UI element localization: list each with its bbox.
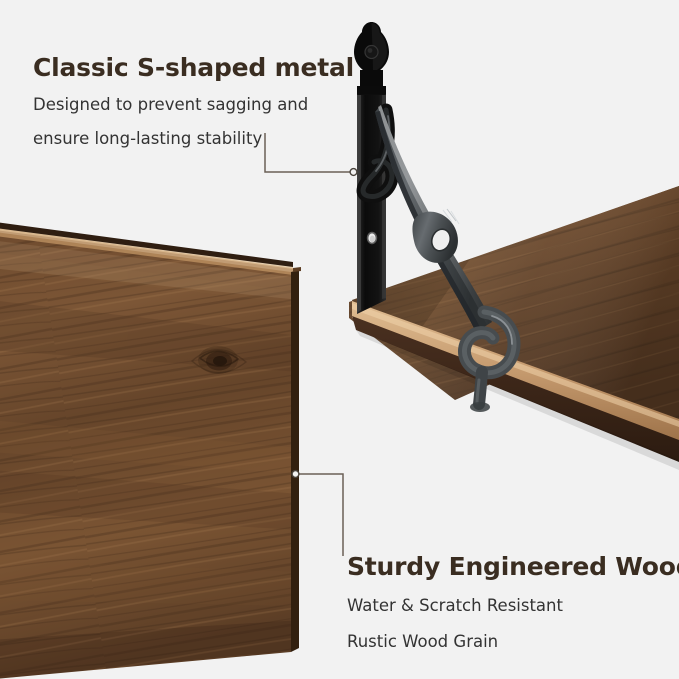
leader-dot-top <box>350 169 357 176</box>
callout-s-shaped-metal: Classic S-shaped metal Designed to preve… <box>33 54 354 150</box>
callout-body-line-1: Water & Scratch Resistant <box>347 594 679 617</box>
callout-engineered-wood: Sturdy Engineered Wood Water & Scratch R… <box>347 553 679 653</box>
callout-body-line-2: ensure long-lasting stability <box>33 127 354 150</box>
callout-title: Classic S-shaped metal <box>33 54 354 82</box>
leader-dot-bottom <box>292 471 299 478</box>
callout-body-line-1: Designed to prevent sagging and <box>33 93 354 116</box>
infographic-canvas: Classic S-shaped metal Designed to preve… <box>0 0 679 679</box>
callout-title: Sturdy Engineered Wood <box>347 553 679 581</box>
callout-body-line-2: Rustic Wood Grain <box>347 630 679 653</box>
bracket-screw-hole <box>367 232 377 244</box>
lower-shelf-board <box>0 222 301 679</box>
